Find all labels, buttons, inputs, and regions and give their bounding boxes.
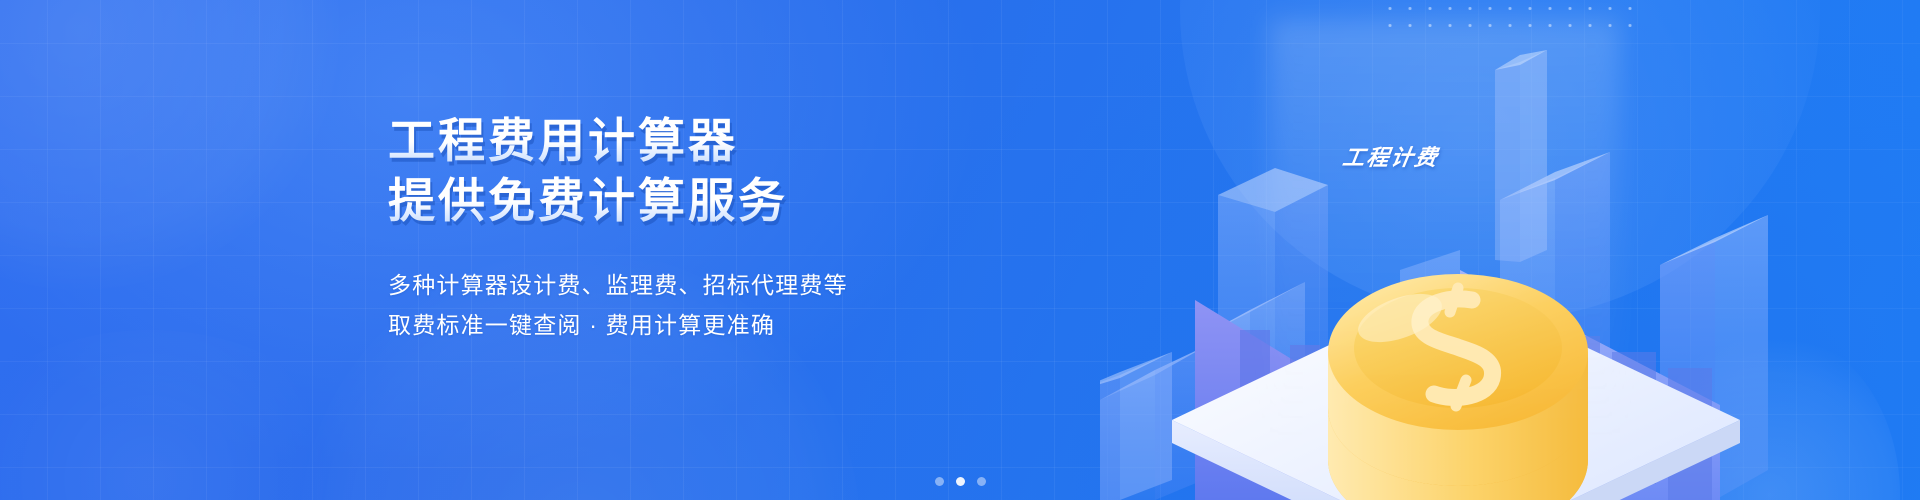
banner-copy: 工程费用计算器 提供免费计算服务 多种计算器设计费、监理费、招标代理费等 取费标… bbox=[388, 112, 988, 345]
headline-line-1: 工程费用计算器 bbox=[388, 112, 988, 169]
carousel-dot-3[interactable] bbox=[977, 477, 986, 486]
description-line-2: 取费标准一键查阅 · 费用计算更准确 bbox=[388, 305, 988, 345]
carousel-dot-2[interactable] bbox=[956, 477, 965, 486]
illustration-badge-label: 工程计费 bbox=[1340, 140, 1441, 172]
carousel-dots[interactable] bbox=[0, 477, 1920, 486]
headline-line-2: 提供免费计算服务 bbox=[388, 172, 988, 229]
banner-illustration: 工程计费 bbox=[1100, 0, 1920, 500]
carousel-dot-1[interactable] bbox=[935, 477, 944, 486]
hero-banner: 工程费用计算器 提供免费计算服务 多种计算器设计费、监理费、招标代理费等 取费标… bbox=[0, 0, 1920, 500]
description-line-1: 多种计算器设计费、监理费、招标代理费等 bbox=[388, 265, 988, 305]
tower-glow bbox=[1270, 20, 1620, 440]
banner-description: 多种计算器设计费、监理费、招标代理费等 取费标准一键查阅 · 费用计算更准确 bbox=[388, 265, 988, 345]
